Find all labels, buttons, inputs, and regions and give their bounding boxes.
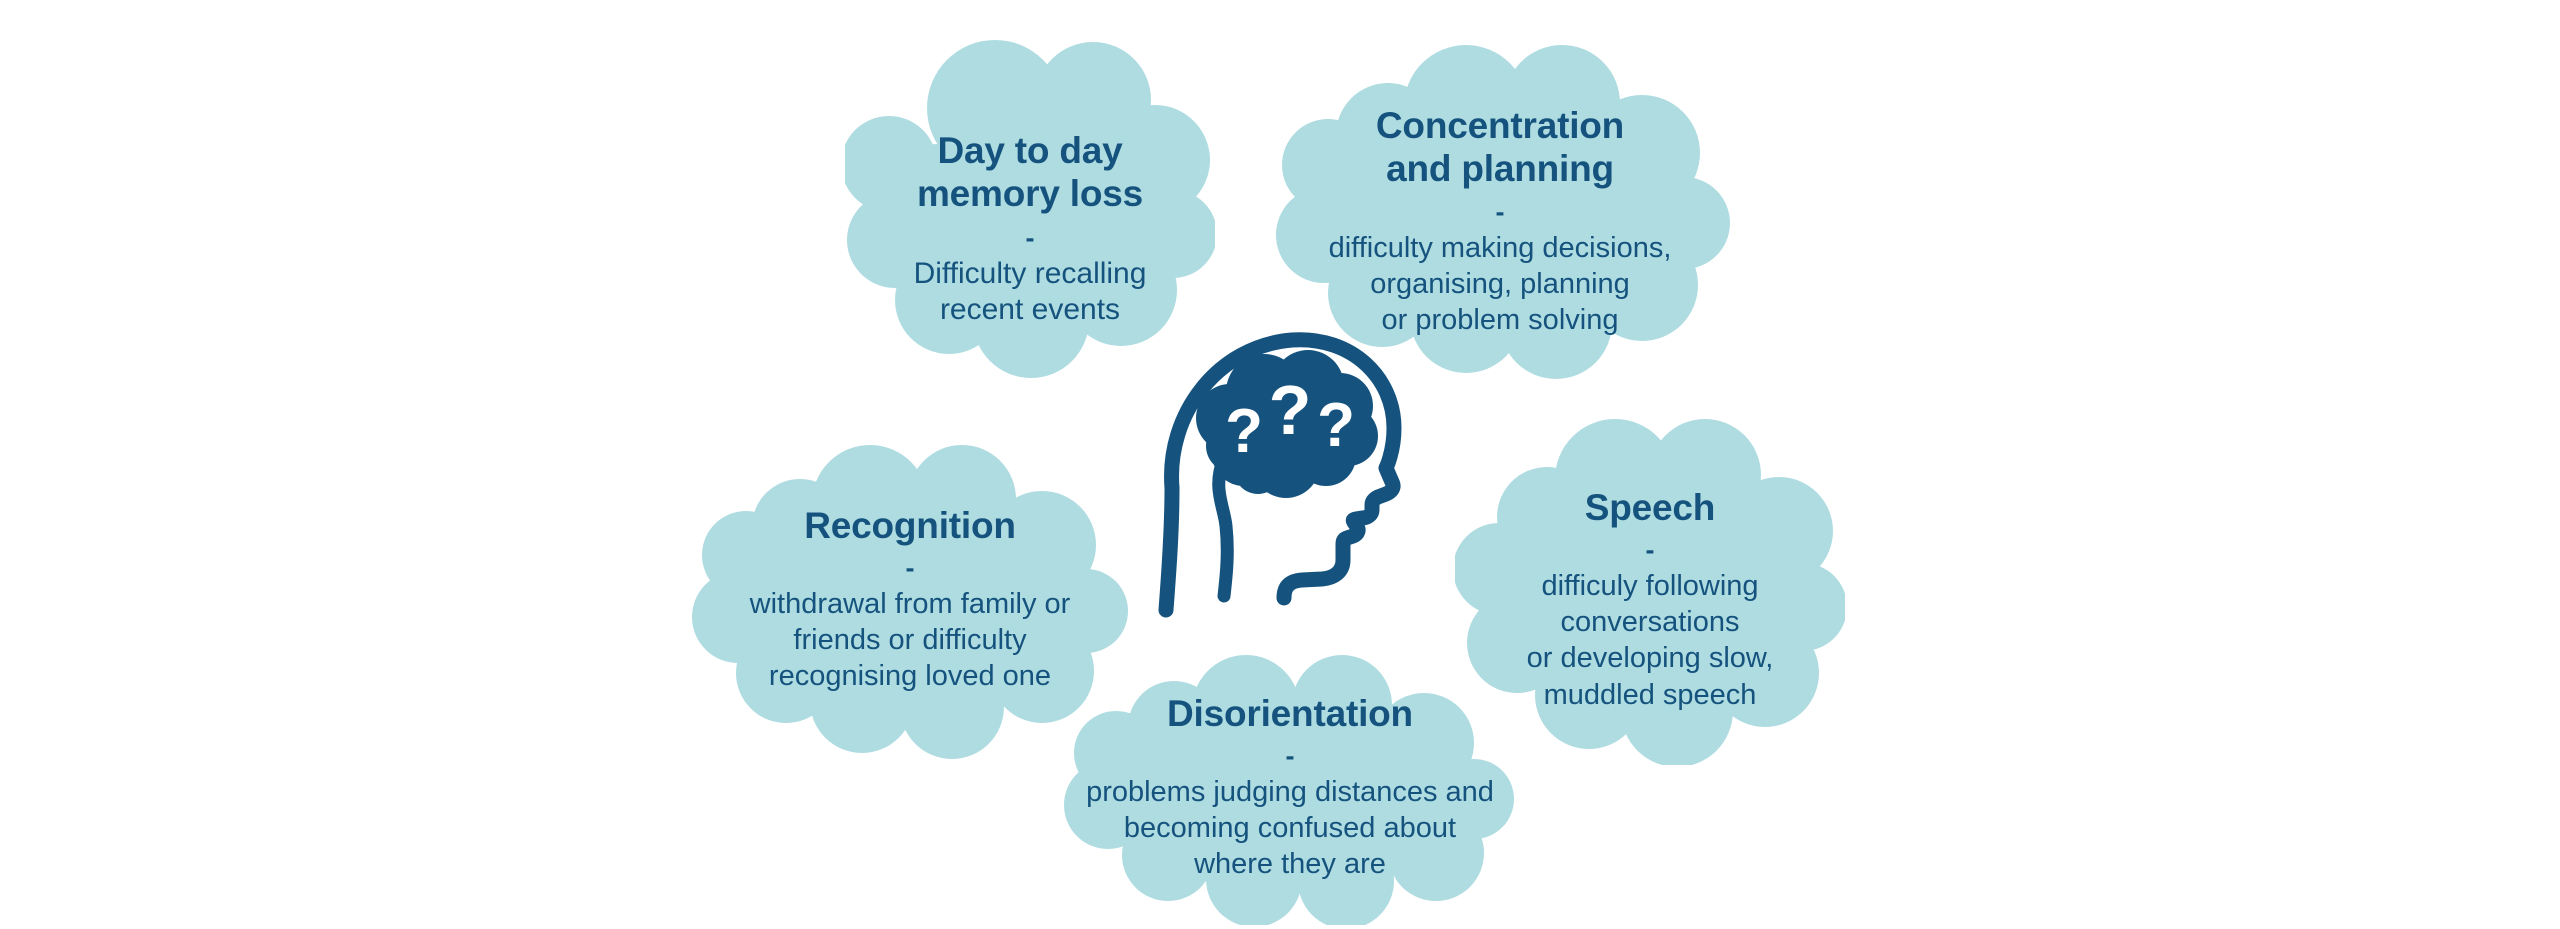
infographic-canvas: Day to day memory loss - Difficulty reca… xyxy=(0,0,2560,929)
head-profile-svg: ? ? ? xyxy=(1140,310,1430,645)
cloud-disorientation: Disorientation - problems judging distan… xyxy=(1050,655,1530,925)
jaw-back-line-path xyxy=(1166,488,1172,610)
question-mark-icon-2: ? xyxy=(1269,371,1312,449)
head-with-question-marks-icon: ? ? ? xyxy=(1140,310,1430,645)
question-mark-icon-3: ? xyxy=(1317,391,1355,460)
question-mark-icon-1: ? xyxy=(1225,397,1263,466)
cloud-shape-disorientation xyxy=(1050,655,1530,925)
